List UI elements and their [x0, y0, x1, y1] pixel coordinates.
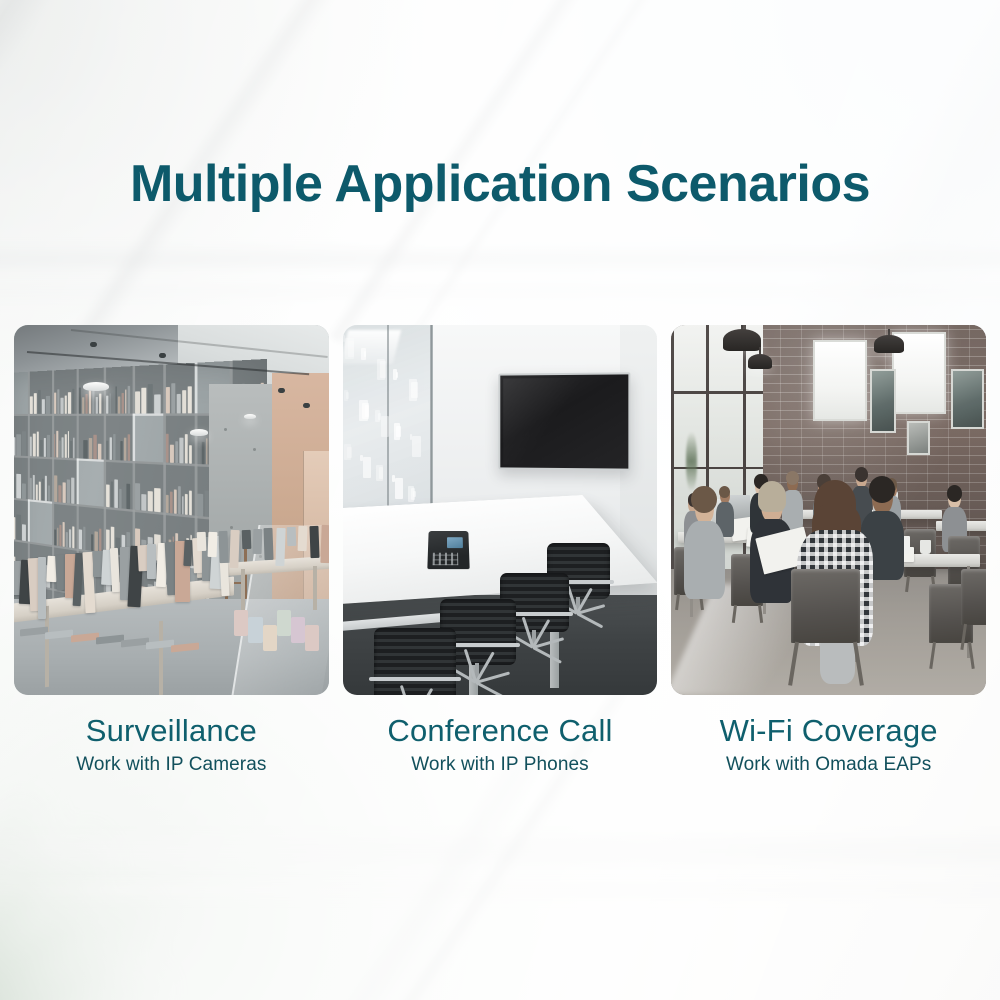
caption-title-surveillance: Surveillance: [14, 714, 329, 747]
wifi-coverage-photo: [671, 325, 986, 695]
surveillance-photo: [14, 325, 329, 695]
promotional-banner: Multiple Application Scenarios: [0, 0, 1000, 1000]
caption-wifi-coverage: Wi-Fi Coverage Work with Omada EAPs: [671, 714, 986, 776]
caption-row: Surveillance Work with IP Cameras Confer…: [14, 714, 986, 776]
caption-subtitle-surveillance: Work with IP Cameras: [14, 754, 329, 776]
caption-subtitle-conference-call: Work with IP Phones: [343, 754, 658, 776]
scenario-card-row: [14, 325, 986, 695]
caption-subtitle-wifi-coverage: Work with Omada EAPs: [671, 754, 986, 776]
caption-title-conference-call: Conference Call: [343, 714, 658, 747]
ip-conference-phone: [428, 529, 469, 570]
page-title: Multiple Application Scenarios: [0, 158, 1000, 210]
caption-conference-call: Conference Call Work with IP Phones: [343, 714, 658, 776]
conference-call-photo: [343, 325, 658, 695]
scenario-card-wifi-coverage[interactable]: [671, 325, 986, 695]
caption-surveillance: Surveillance Work with IP Cameras: [14, 714, 329, 776]
scenario-card-conference-call[interactable]: [343, 325, 658, 695]
scenario-card-surveillance[interactable]: [14, 325, 329, 695]
caption-title-wifi-coverage: Wi-Fi Coverage: [671, 714, 986, 747]
